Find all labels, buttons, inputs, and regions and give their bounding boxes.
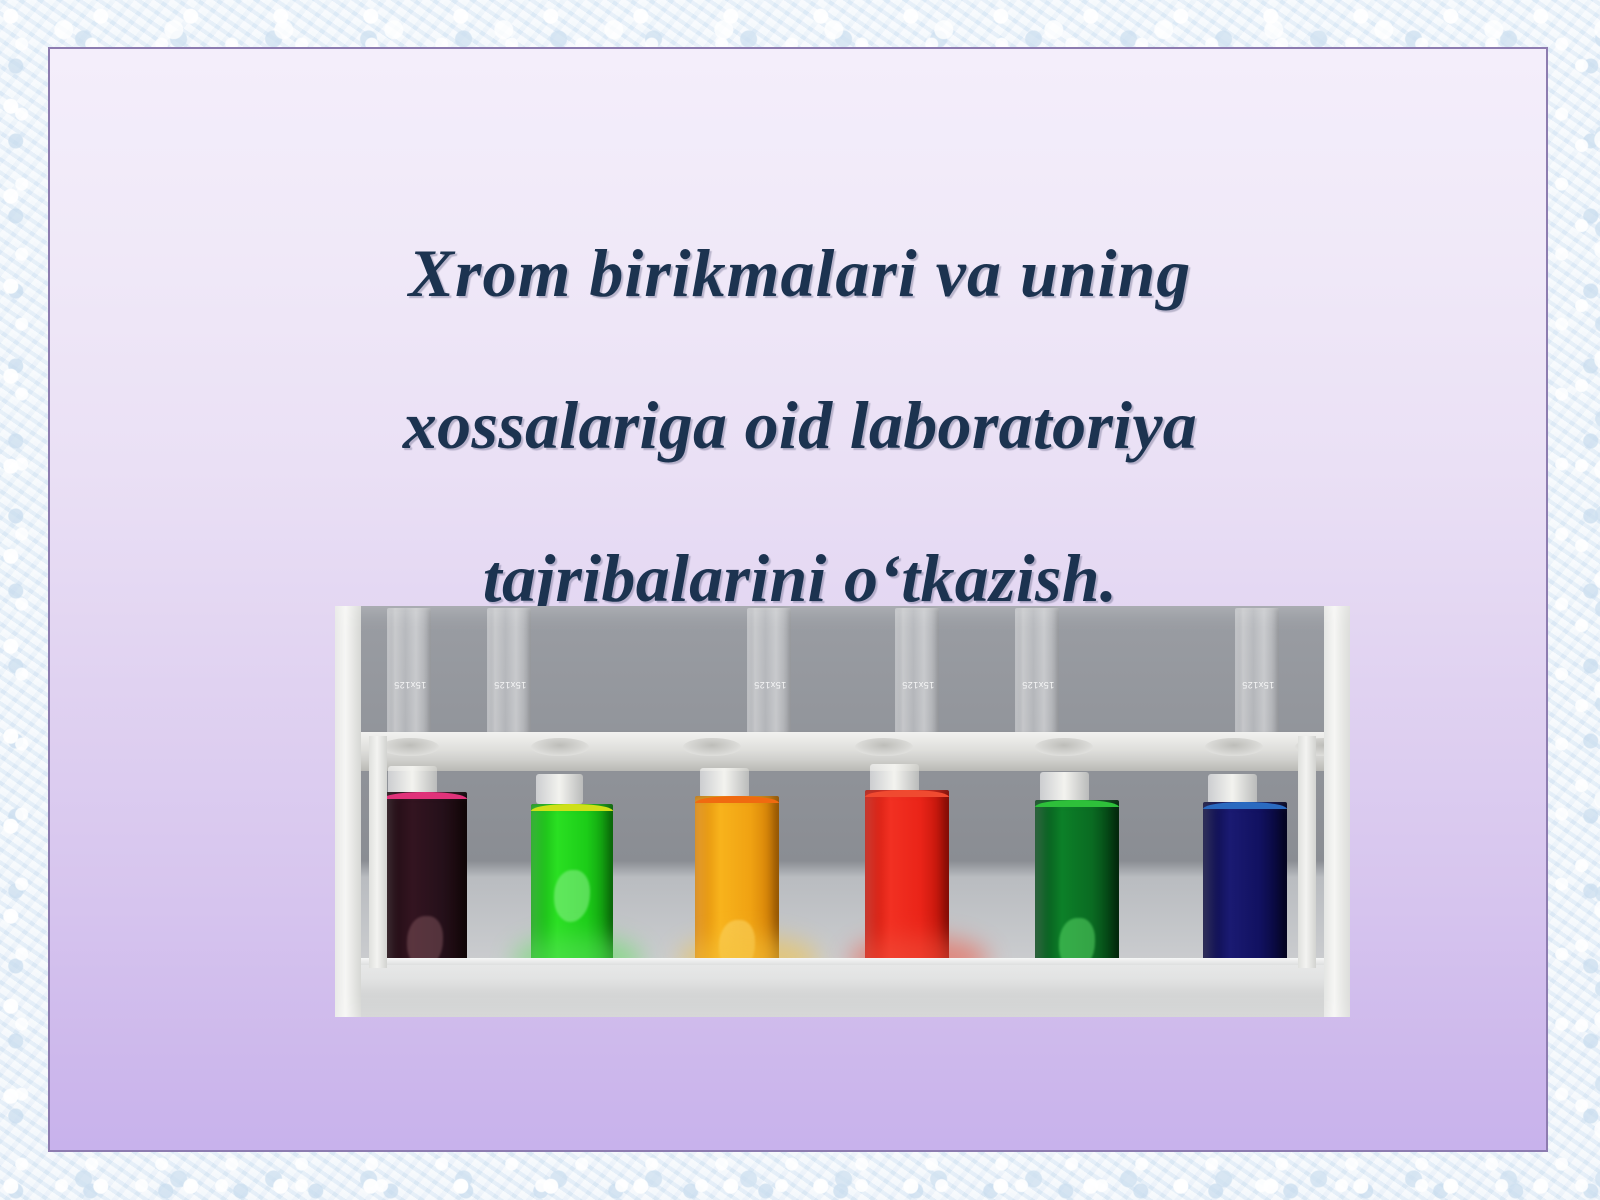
upper-tube-marking: 15x125 bbox=[489, 680, 531, 690]
rack-post-left bbox=[335, 606, 361, 1017]
upper-tube-3: 15x125 bbox=[747, 608, 791, 742]
rack-support-right bbox=[1298, 736, 1316, 968]
tube-neck bbox=[700, 768, 749, 798]
tube-neck bbox=[1208, 774, 1257, 804]
tube-dark-purple bbox=[383, 766, 467, 986]
tube-precipitate bbox=[554, 870, 590, 922]
upper-tube-6: 15x125 bbox=[1235, 608, 1279, 742]
test-tube-rack-image: 15x125 15x125 15x125 15x125 15x125 15x12… bbox=[335, 606, 1350, 1017]
rack-post-right bbox=[1324, 606, 1350, 1017]
rack-base-shelf bbox=[335, 958, 1350, 1017]
upper-tube-1: 15x125 bbox=[387, 608, 431, 742]
upper-tube-4: 15x125 bbox=[895, 608, 939, 742]
rack-support-left bbox=[369, 736, 387, 968]
upper-tube-marking: 15x125 bbox=[1017, 680, 1059, 690]
upper-tube-marking: 15x125 bbox=[897, 680, 939, 690]
rack-upper-shelf bbox=[335, 732, 1350, 764]
rack-base-lip bbox=[335, 958, 1350, 965]
tube-meniscus bbox=[865, 790, 949, 797]
tube-neck bbox=[1040, 772, 1089, 802]
upper-tube-5: 15x125 bbox=[1015, 608, 1059, 742]
rack-hole-5 bbox=[1035, 738, 1093, 756]
page-title-line-2: xossalariga oid laboratoriya bbox=[100, 387, 1500, 463]
tube-liquid bbox=[383, 792, 467, 986]
tube-meniscus bbox=[695, 796, 779, 803]
tube-dark-green bbox=[1035, 772, 1119, 986]
rack-hole-4 bbox=[855, 738, 913, 756]
tube-meniscus bbox=[531, 804, 613, 811]
upper-tube-2: 15x125 bbox=[487, 608, 531, 742]
upper-tube-marking: 15x125 bbox=[1237, 680, 1279, 690]
page-title-line-3: tajribalarini o‘tkazish. bbox=[100, 540, 1500, 616]
tube-meniscus bbox=[1035, 800, 1119, 807]
upper-tube-marking: 15x125 bbox=[749, 680, 791, 690]
tube-neck bbox=[536, 774, 584, 804]
tube-meniscus bbox=[383, 792, 467, 799]
rack-upper-shelf-edge bbox=[335, 761, 1350, 771]
rack-hole-3 bbox=[683, 738, 741, 756]
tube-meniscus bbox=[1203, 802, 1287, 809]
page-title-line-1: Xrom birikmalari va uning bbox=[100, 235, 1500, 311]
slide-panel: Xrom birikmalari va uning xossalariga oi… bbox=[48, 47, 1548, 1152]
tube-dark-blue bbox=[1203, 774, 1287, 986]
rack-hole-1 bbox=[381, 738, 439, 756]
rack-hole-6 bbox=[1205, 738, 1263, 756]
upper-tube-marking: 15x125 bbox=[389, 680, 431, 690]
rack-hole-2 bbox=[531, 738, 589, 756]
